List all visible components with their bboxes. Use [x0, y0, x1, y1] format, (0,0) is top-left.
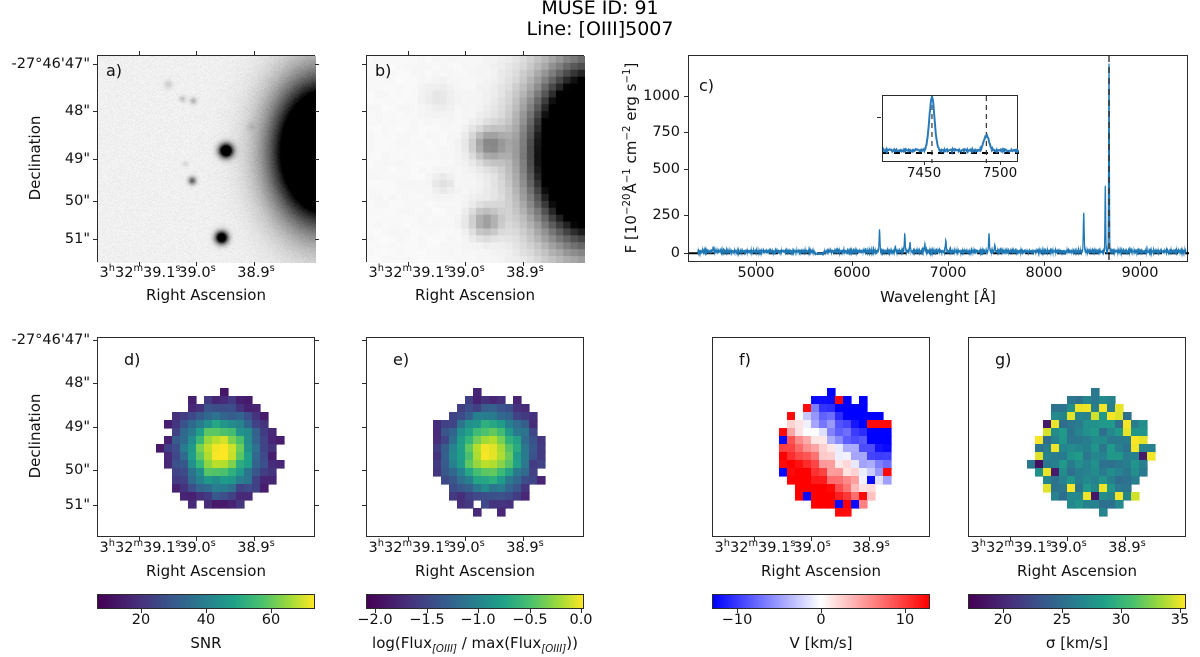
panel-a-dec-tick-1: 48": [0, 103, 90, 119]
panel-e-ra-tick-2: 38.9s: [506, 540, 543, 556]
panel-a-ra-tick-1: 39.0s: [178, 265, 215, 281]
panel-d-ra-tick-0: 3h32m39.1s: [100, 540, 181, 556]
panel-d-dec-tick-2: 49": [0, 419, 90, 435]
colorbar-snr-tick-1: 40: [197, 612, 215, 628]
panel-d-dec-tick-0: -27°46'47": [0, 332, 90, 348]
colorbar-dispersion-tick-2: 30: [1112, 612, 1130, 628]
panel-c-xtick-3: 8000: [1026, 265, 1063, 281]
panel-c-xtick-1: 6000: [834, 265, 871, 281]
muse-image-canvas: [367, 56, 585, 263]
panel-a-ylabel: Declination: [26, 116, 44, 201]
spectrum-inset-canvas: [883, 96, 1019, 163]
colorbar-velocity-label: V [km/s]: [790, 634, 853, 652]
panel-c-label: c): [699, 76, 714, 95]
colorbar-dispersion[interactable]: [968, 594, 1186, 609]
panel-a-dec-tick-0: -27°46'47": [0, 56, 90, 72]
colorbar-dispersion-tick-1: 25: [1053, 612, 1071, 628]
spectrum-inset-axes[interactable]: [882, 95, 1018, 162]
panel-d-xlabel: Right Ascension: [146, 562, 266, 580]
panel-f-ra-tick-2: 38.9s: [852, 540, 889, 556]
panel-g-label: g): [995, 350, 1011, 369]
panel-e-ra-tick-1: 39.0s: [447, 540, 484, 556]
panel-f-xlabel: Right Ascension: [761, 562, 881, 580]
panel-b-ra-tick-0: 3h32m39.1s: [369, 265, 450, 281]
panel-a-label: a): [106, 61, 122, 80]
panel-g-axes[interactable]: g): [968, 337, 1186, 537]
colorbar-snr-tick-0: 20: [132, 612, 150, 628]
panel-f-ra-tick-1: 39.0s: [793, 540, 830, 556]
panel-b-axes[interactable]: b): [366, 55, 584, 262]
panel-e-axes[interactable]: e): [366, 337, 584, 537]
inset-xtick-0: 7450: [907, 165, 941, 181]
panel-c-axes[interactable]: c): [688, 55, 1188, 262]
panel-f-ra-tick-0: 3h32m39.1s: [715, 540, 796, 556]
panel-a-dec-tick-4: 51": [0, 231, 90, 247]
panel-d-ylabel: Declination: [26, 394, 44, 479]
panel-a-ra-tick-0: 3h32m39.1s: [100, 265, 181, 281]
panel-f-axes[interactable]: f): [712, 337, 930, 537]
panel-a-ra-tick-2: 38.9s: [237, 265, 274, 281]
panel-d-dec-tick-3: 50": [0, 462, 90, 478]
colorbar-velocity-tick-1: 0: [816, 612, 825, 628]
colorbar-flux-label: log(Flux[OIII] / max(Flux[OIII])): [372, 634, 578, 652]
panel-d-dec-tick-4: 51": [0, 497, 90, 513]
colorbar-flux-tick-1: −1.5: [409, 612, 444, 628]
panel-b-xlabel: Right Ascension: [415, 286, 535, 304]
panel-c-xlabel: Wavelenght [Å]: [880, 288, 996, 306]
colorbar-velocity-tick-0: −10: [722, 612, 753, 628]
colorbar-snr-label: SNR: [190, 634, 221, 652]
panel-b-ra-tick-2: 38.9s: [506, 265, 543, 281]
figure-title: MUSE ID: 91 Line: [OIII]5007: [0, 0, 1200, 41]
colorbar-dispersion-tick-0: 20: [994, 612, 1012, 628]
panel-d-axes[interactable]: d): [97, 337, 315, 537]
colorbar-flux-tick-4: 0.0: [569, 612, 592, 628]
panel-d-label: d): [124, 350, 140, 369]
panel-c-ytick-1: 250: [610, 207, 680, 223]
colorbar-flux-tick-0: −2.0: [357, 612, 392, 628]
panel-c-ytick-0: 0: [610, 245, 680, 261]
panel-e-xlabel: Right Ascension: [415, 562, 535, 580]
colorbar-flux-tick-3: −0.5: [512, 612, 547, 628]
panel-c-ytick-2: 500: [610, 161, 680, 177]
inset-xtick-1: 7500: [983, 165, 1017, 181]
colorbar-flux-tick-2: −1.0: [460, 612, 495, 628]
panel-b-ra-tick-1: 39.0s: [447, 265, 484, 281]
panel-d-dec-tick-1: 48": [0, 375, 90, 391]
colorbar-flux[interactable]: [366, 594, 584, 609]
title-line-1: MUSE ID: 91: [0, 0, 1200, 19]
panel-b-label: b): [375, 61, 391, 80]
colorbar-dispersion-tick-3: 35: [1171, 612, 1189, 628]
panel-g-xlabel: Right Ascension: [1017, 562, 1137, 580]
panel-a-dec-tick-3: 50": [0, 193, 90, 209]
colorbar-velocity[interactable]: [712, 594, 930, 609]
colorbar-dispersion-label: σ [km/s]: [1046, 634, 1108, 652]
panel-a-axes[interactable]: a): [97, 55, 315, 262]
panel-g-ra-tick-0: 3h32m39.1s: [971, 540, 1052, 556]
panel-f-label: f): [739, 350, 751, 369]
panel-c-ytick-4: 1000: [610, 88, 680, 104]
colorbar-snr[interactable]: [97, 594, 315, 609]
colorbar-velocity-tick-2: 10: [896, 612, 914, 628]
panel-c-xtick-2: 7000: [930, 265, 967, 281]
colorbar-snr-tick-2: 60: [262, 612, 280, 628]
panel-a-dec-tick-2: 49": [0, 151, 90, 167]
panel-g-ra-tick-2: 38.9s: [1108, 540, 1145, 556]
panel-e-label: e): [393, 350, 409, 369]
panel-a-xlabel: Right Ascension: [146, 286, 266, 304]
figure-root: MUSE ID: 91 Line: [OIII]5007 a) -27°46'4…: [0, 0, 1200, 657]
panel-d-ra-tick-2: 38.9s: [237, 540, 274, 556]
hst-image-canvas: [98, 56, 316, 263]
panel-g-ra-tick-1: 39.0s: [1049, 540, 1086, 556]
panel-d-ra-tick-1: 39.0s: [178, 540, 215, 556]
panel-c-xtick-0: 5000: [738, 265, 775, 281]
title-line-2: Line: [OIII]5007: [0, 19, 1200, 40]
panel-c-xtick-4: 9000: [1122, 265, 1159, 281]
panel-c-ylabel: F [10−20Å−1 cm−2 erg s−1]: [622, 63, 640, 254]
panel-c-ytick-3: 750: [610, 124, 680, 140]
panel-e-ra-tick-0: 3h32m39.1s: [369, 540, 450, 556]
